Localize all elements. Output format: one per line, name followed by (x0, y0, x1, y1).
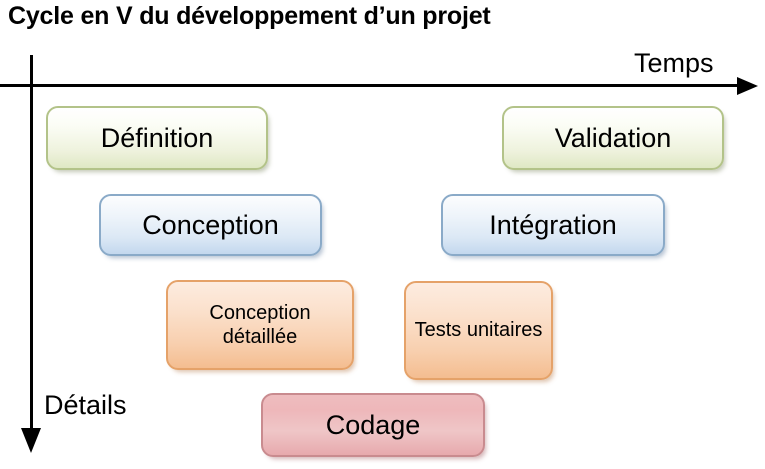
node-validation: Validation (502, 106, 724, 170)
node-definition: Définition (46, 106, 268, 170)
time-axis-arrowhead-icon (737, 77, 758, 95)
node-tests-unitaires-label: Tests unitaires (409, 318, 549, 342)
detail-axis-label: Détails (44, 390, 127, 421)
node-integration: Intégration (441, 194, 665, 256)
node-codage-label: Codage (320, 409, 427, 442)
node-integration-label: Intégration (483, 209, 623, 242)
node-conception-detaillee-label: Conception détaillée (168, 301, 352, 350)
page-title: Cycle en V du développement d’un projet (8, 2, 491, 31)
v-model-diagram: Cycle en V du développement d’un projet … (0, 0, 765, 469)
time-axis-line (0, 84, 740, 87)
node-definition-label: Définition (95, 122, 220, 155)
node-conception-label: Conception (136, 209, 285, 242)
node-conception: Conception (99, 194, 322, 256)
node-validation-label: Validation (549, 122, 678, 155)
time-axis-label: Temps (634, 48, 714, 79)
node-tests-unitaires: Tests unitaires (404, 281, 553, 380)
node-codage: Codage (261, 393, 485, 457)
detail-axis-line (30, 55, 33, 432)
node-conception-detaillee: Conception détaillée (166, 280, 354, 370)
detail-axis-arrowhead-icon (21, 428, 41, 453)
